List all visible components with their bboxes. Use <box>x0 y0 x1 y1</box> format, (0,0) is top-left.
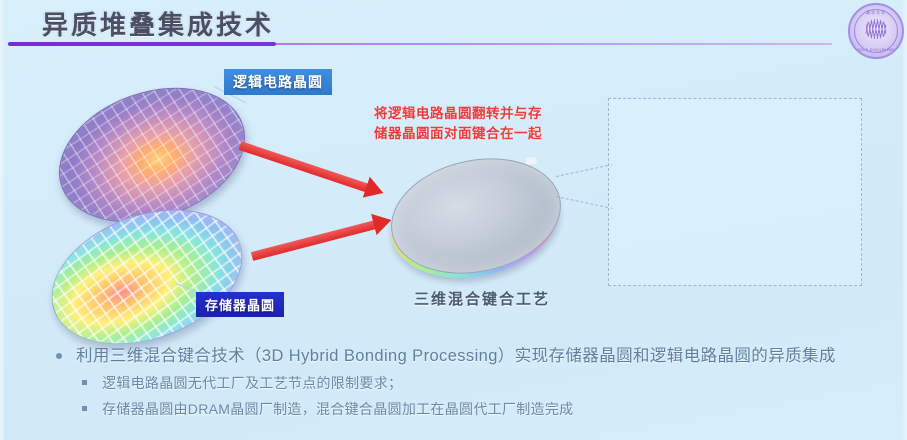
presentation-slide: 异质堆叠集成技术 清华大学 SELF DISCIPLINE 逻辑电路晶圆 存储器… <box>0 0 907 440</box>
callout-connector-top <box>556 164 613 177</box>
university-logo-icon: 清华大学 SELF DISCIPLINE <box>848 3 904 59</box>
title-underline-strong <box>8 42 276 46</box>
arrow-memory-to-bond <box>251 220 377 261</box>
slide-title: 异质堆叠集成技术 <box>42 5 274 42</box>
memory-wafer-die-grid <box>34 186 260 368</box>
bonded-wafer-notch <box>526 157 537 165</box>
bullet-sub-1: 逻辑电路晶圆无代工厂及工艺节点的限制要求； <box>46 372 883 394</box>
bullet-main: 利用三维混合键合技术（3D Hybrid Bonding Processing）… <box>46 344 883 368</box>
red-annotation-text: 将逻辑电路晶圆翻转并与存储器晶圆面对面键合在一起 <box>374 104 554 144</box>
logo-bottom-text: SELF DISCIPLINE <box>850 48 902 52</box>
bullet-sub-2: 存储器晶圆由DRAM晶圆厂制造，混合键合晶圆加工在晶圆代工厂制造完成 <box>46 398 883 420</box>
label-logic-wafer: 逻辑电路晶圆 <box>224 69 332 95</box>
bonded-wafer-illustration <box>380 143 572 288</box>
arrow-logic-to-bond <box>239 141 370 192</box>
memory-wafer-illustration <box>33 185 261 369</box>
slide-right-edge <box>903 0 907 440</box>
label-memory-wafer: 存储器晶圆 <box>196 292 284 317</box>
callout-dashed-box: SEDRAM Logic <box>608 98 862 286</box>
caption-hybrid-bonding-process: 三维混合键合工艺 <box>414 288 550 309</box>
logo-crest <box>865 19 887 39</box>
title-underline-thin <box>276 43 832 45</box>
callout-connector-bottom <box>556 196 613 209</box>
slide-left-edge <box>0 0 4 440</box>
bullet-list: 利用三维混合键合技术（3D Hybrid Bonding Processing）… <box>46 344 883 420</box>
logo-top-text: 清华大学 <box>850 10 902 16</box>
